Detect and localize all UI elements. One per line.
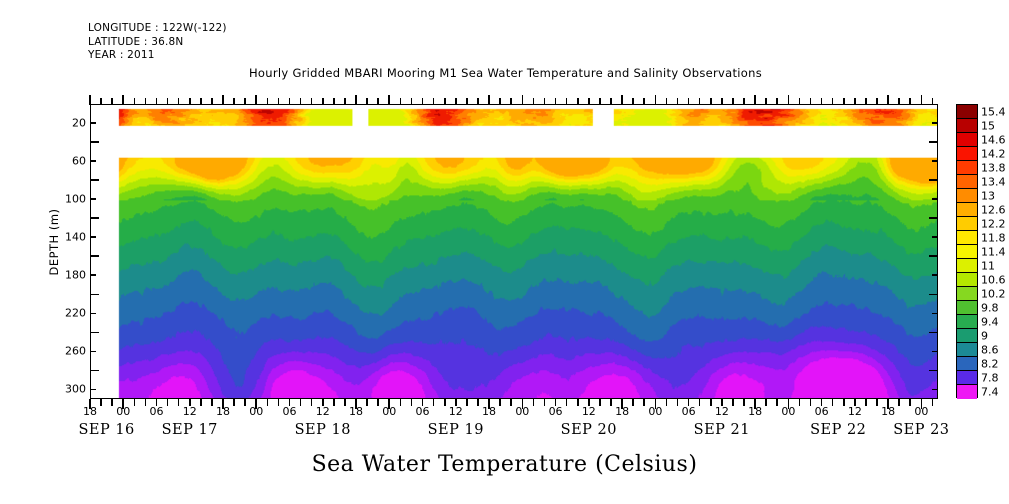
- x-axis-labels: 1800061218000612180006121800061218000612…: [90, 405, 938, 447]
- colorbar-cell: [957, 357, 977, 371]
- x-axis-hour-label: 18: [216, 405, 230, 418]
- x-axis-top-ticks: [90, 95, 938, 105]
- y-tick: [932, 274, 938, 276]
- x-tick: [333, 98, 335, 105]
- x-tick: [222, 95, 224, 105]
- y-axis-left-ticks: [90, 104, 100, 399]
- colorbar-tick-label: 14.6: [981, 134, 1006, 147]
- colorbar-cell: [957, 119, 977, 133]
- x-tick: [466, 98, 468, 105]
- x-axis-hour-label: 18: [748, 405, 762, 418]
- x-tick: [156, 98, 158, 105]
- y-axis-tick-label: 220: [46, 307, 86, 320]
- y-tick: [90, 198, 96, 200]
- x-axis-hour-label: 00: [249, 405, 263, 418]
- x-axis-hour-label: 00: [914, 405, 928, 418]
- x-axis-day-label: SEP 17: [162, 422, 218, 438]
- x-tick: [344, 98, 346, 105]
- colorbar-tick-label: 11.4: [981, 246, 1006, 259]
- x-tick: [233, 98, 235, 105]
- x-tick: [677, 98, 679, 105]
- colorbar-cell: [957, 259, 977, 273]
- heatmap-plot-area: [90, 104, 938, 399]
- y-tick: [932, 160, 938, 162]
- x-tick: [322, 98, 324, 105]
- x-tick: [555, 98, 557, 105]
- x-tick: [843, 98, 845, 105]
- y-tick: [929, 255, 938, 257]
- x-tick: [643, 98, 645, 105]
- y-tick: [90, 255, 99, 257]
- x-tick: [100, 98, 102, 105]
- x-axis-hour-label: 00: [515, 405, 529, 418]
- x-tick: [377, 98, 379, 105]
- x-tick: [743, 98, 745, 105]
- y-tick: [929, 141, 938, 143]
- colorbar-cell: [957, 231, 977, 245]
- x-axis-day-label: SEP 16: [78, 422, 134, 438]
- y-tick: [90, 274, 96, 276]
- x-tick: [854, 98, 856, 105]
- colorbar-tick-label: 15: [981, 120, 995, 133]
- y-tick: [932, 122, 938, 124]
- y-tick: [90, 389, 96, 391]
- x-axis-hour-label: 18: [615, 405, 629, 418]
- colorbar-tick-label: 15.4: [981, 106, 1006, 119]
- x-tick: [699, 98, 701, 105]
- x-axis-hour-label: 06: [815, 405, 829, 418]
- y-axis-tick-label: 300: [46, 383, 86, 396]
- x-tick: [544, 98, 546, 105]
- x-axis-day-label: SEP 23: [893, 422, 949, 438]
- x-tick: [632, 98, 634, 105]
- colorbar-tick-label: 13.4: [981, 176, 1006, 189]
- x-tick: [422, 98, 424, 105]
- colorbar-cell: [957, 133, 977, 147]
- colorbar-cell: [957, 301, 977, 315]
- y-tick: [932, 198, 938, 200]
- x-axis-day-label: SEP 20: [561, 422, 617, 438]
- colorbar-cell: [957, 161, 977, 175]
- x-tick: [366, 98, 368, 105]
- x-axis-hour-label: 00: [116, 405, 130, 418]
- y-tick: [929, 294, 938, 296]
- y-axis-tick-label: 60: [46, 155, 86, 168]
- x-axis-hour-label: 12: [316, 405, 330, 418]
- y-axis-right-ticks: [928, 104, 938, 399]
- x-axis-hour-label: 12: [715, 405, 729, 418]
- x-tick: [765, 98, 767, 105]
- y-tick: [90, 294, 99, 296]
- y-tick: [90, 141, 99, 143]
- colorbar-cell: [957, 385, 977, 399]
- colorbar-tick-label: 13: [981, 190, 995, 203]
- x-tick: [444, 98, 446, 105]
- colorbar-tick-label: 10.2: [981, 288, 1006, 301]
- colorbar-cell: [957, 175, 977, 189]
- x-tick: [710, 98, 712, 105]
- x-tick: [810, 98, 812, 105]
- colorbar-tick-label: 11: [981, 260, 995, 273]
- y-tick: [932, 236, 938, 238]
- y-axis-tick-label: 20: [46, 117, 86, 130]
- x-tick: [876, 98, 878, 105]
- x-tick: [566, 98, 568, 105]
- y-tick: [90, 236, 96, 238]
- colorbar-tick-label: 13.8: [981, 162, 1006, 175]
- x-tick: [388, 95, 390, 105]
- y-tick: [90, 160, 96, 162]
- x-tick: [909, 98, 911, 105]
- x-tick: [499, 98, 501, 105]
- colorbar-cell: [957, 217, 977, 231]
- x-tick: [832, 98, 834, 105]
- x-tick: [721, 98, 723, 105]
- colorbar-cell: [957, 189, 977, 203]
- x-axis-day-label: SEP 18: [295, 422, 351, 438]
- x-tick: [588, 98, 590, 105]
- x-tick: [278, 98, 280, 105]
- x-axis-hour-label: 18: [881, 405, 895, 418]
- x-axis-hour-label: 06: [283, 405, 297, 418]
- x-tick: [134, 98, 136, 105]
- x-axis-hour-label: 06: [682, 405, 696, 418]
- x-tick: [145, 98, 147, 105]
- colorbar-tick-label: 8.6: [981, 344, 999, 357]
- x-axis-hour-label: 12: [449, 405, 463, 418]
- x-axis-hour-label: 06: [150, 405, 164, 418]
- y-tick: [90, 332, 99, 334]
- colorbar-tick-label: 14.2: [981, 148, 1006, 161]
- x-tick: [178, 98, 180, 105]
- longitude-label: LONGITUDE : 122W(-122): [88, 22, 227, 34]
- colorbar-tick-label: 10.6: [981, 274, 1006, 287]
- colorbar-tick-label: 8.2: [981, 358, 999, 371]
- x-tick: [666, 98, 668, 105]
- x-tick: [189, 98, 191, 105]
- y-tick: [929, 370, 938, 372]
- latitude-label: LATITUDE : 36.8N: [88, 36, 183, 48]
- year-label: YEAR : 2011: [88, 49, 155, 61]
- x-tick: [122, 95, 124, 105]
- station-metadata: LONGITUDE : 122W(-122) LATITUDE : 36.8N …: [88, 22, 227, 63]
- x-tick: [655, 95, 657, 105]
- y-tick: [932, 389, 938, 391]
- x-axis-hour-label: 18: [83, 405, 97, 418]
- x-axis-hour-label: 12: [183, 405, 197, 418]
- x-axis-hour-label: 06: [416, 405, 430, 418]
- x-tick: [455, 98, 457, 105]
- x-tick: [433, 98, 435, 105]
- x-tick: [776, 98, 778, 105]
- colorbar-cell: [957, 273, 977, 287]
- x-axis-hour-label: 00: [648, 405, 662, 418]
- colorbar-cell: [957, 105, 977, 119]
- x-axis-hour-label: 18: [482, 405, 496, 418]
- x-tick: [289, 98, 291, 105]
- x-tick: [898, 98, 900, 105]
- y-tick: [929, 179, 938, 181]
- y-tick: [90, 217, 99, 219]
- y-tick: [90, 370, 99, 372]
- colorbar-title: Sea Water Temperature (Celsius): [0, 452, 1009, 477]
- colorbar-cell: [957, 371, 977, 385]
- x-axis-hour-label: 00: [781, 405, 795, 418]
- x-axis-day-label: SEP 21: [694, 422, 750, 438]
- x-tick: [200, 98, 202, 105]
- x-tick: [488, 95, 490, 105]
- x-axis-day-label: SEP 19: [428, 422, 484, 438]
- x-tick: [754, 95, 756, 105]
- y-tick: [90, 351, 96, 353]
- colorbar-cell: [957, 287, 977, 301]
- x-tick: [599, 98, 601, 105]
- x-axis-hour-label: 00: [382, 405, 396, 418]
- colorbar-tick-label: 9.8: [981, 302, 999, 315]
- colorbar-cell: [957, 315, 977, 329]
- x-tick: [311, 98, 313, 105]
- x-tick: [610, 98, 612, 105]
- colorbar: [956, 104, 978, 398]
- colorbar-tick-label: 12.2: [981, 218, 1006, 231]
- x-tick: [887, 95, 889, 105]
- x-tick: [355, 95, 357, 105]
- y-tick: [90, 313, 96, 315]
- x-tick: [411, 98, 413, 105]
- colorbar-tick-label: 7.4: [981, 386, 999, 399]
- x-tick: [921, 95, 923, 105]
- x-tick: [732, 98, 734, 105]
- x-axis-hour-label: 12: [848, 405, 862, 418]
- y-tick: [932, 313, 938, 315]
- x-tick: [255, 95, 257, 105]
- x-tick: [799, 98, 801, 105]
- temperature-heatmap-canvas: [91, 105, 937, 398]
- x-tick: [621, 95, 623, 105]
- y-axis-title: DEPTH (m): [47, 182, 61, 302]
- x-axis-hour-label: 18: [349, 405, 363, 418]
- colorbar-cell: [957, 203, 977, 217]
- x-tick: [510, 98, 512, 105]
- colorbar-cell: [957, 245, 977, 259]
- colorbar-tick-label: 11.8: [981, 232, 1006, 245]
- colorbar-tick-label: 7.8: [981, 372, 999, 385]
- colorbar-tick-label: 9.4: [981, 316, 999, 329]
- x-tick: [477, 98, 479, 105]
- y-axis-tick-label: 260: [46, 345, 86, 358]
- colorbar-tick-label: 12.6: [981, 204, 1006, 217]
- colorbar-tick-label: 9: [981, 330, 988, 343]
- x-tick: [821, 98, 823, 105]
- x-tick: [267, 98, 269, 105]
- x-axis-day-label: SEP 22: [810, 422, 866, 438]
- colorbar-cell: [957, 329, 977, 343]
- x-tick: [211, 98, 213, 105]
- x-tick: [400, 98, 402, 105]
- x-axis-hour-label: 12: [582, 405, 596, 418]
- x-axis-hour-label: 06: [549, 405, 563, 418]
- x-tick: [788, 95, 790, 105]
- y-tick: [90, 122, 96, 124]
- y-tick: [929, 332, 938, 334]
- x-tick: [244, 98, 246, 105]
- colorbar-cell: [957, 343, 977, 357]
- colorbar-cell: [957, 147, 977, 161]
- y-tick: [929, 217, 938, 219]
- x-tick: [577, 98, 579, 105]
- x-tick: [533, 98, 535, 105]
- x-tick: [111, 98, 113, 105]
- x-tick: [522, 95, 524, 105]
- x-tick: [167, 98, 169, 105]
- colorbar-labels: 15.41514.614.213.813.41312.612.211.811.4…: [981, 104, 1009, 400]
- y-tick: [932, 351, 938, 353]
- x-tick: [865, 98, 867, 105]
- y-tick: [90, 179, 99, 181]
- x-tick: [300, 98, 302, 105]
- x-tick: [688, 98, 690, 105]
- chart-title: Hourly Gridded MBARI Mooring M1 Sea Wate…: [0, 66, 1009, 80]
